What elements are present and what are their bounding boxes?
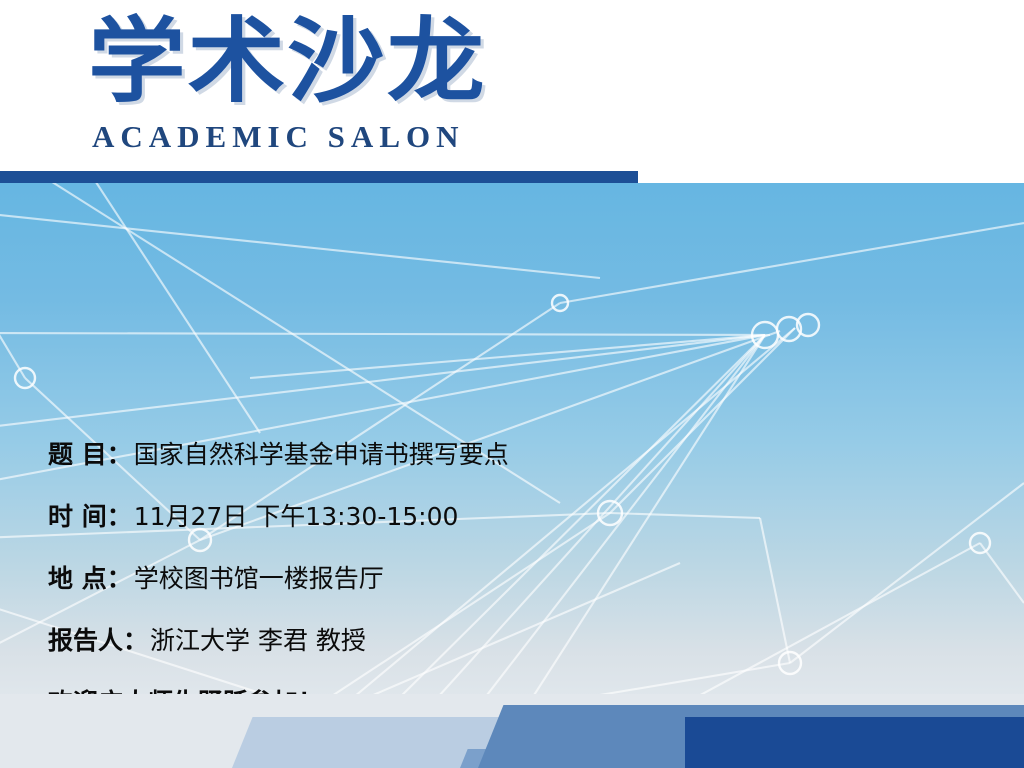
detail-value: 国家自然科学基金申请书撰写要点 [134,438,509,472]
slide-poster: 学术沙龙 ACADEMIC SALON [0,0,1024,768]
detail-row-time: 时 间： 11月27日 下午13:30-15:00 [48,500,688,534]
poster-header: 学术沙龙 ACADEMIC SALON [0,0,1024,183]
detail-label: 时 间： [48,500,132,534]
poster-body: 题 目： 国家自然科学基金申请书撰写要点 时 间： 11月27日 下午13:30… [0,183,1024,717]
header-divider-bar [0,171,638,183]
detail-label: 地 点： [48,562,132,596]
poster-footer: 绍兴文理学院 Shaoxing University 医学院 [0,694,1024,768]
detail-row-speaker: 报告人： 浙江大学 李君 教授 [48,624,688,658]
detail-row-topic: 题 目： 国家自然科学基金申请书撰写要点 [48,438,688,472]
footer-navy-band: 绍兴文理学院 Shaoxing University 医学院 [685,717,1024,768]
academic-salon-logo-en: ACADEMIC SALON [92,118,465,156]
event-details: 题 目： 国家自然科学基金申请书撰写要点 时 间： 11月27日 下午13:30… [48,438,688,717]
detail-label: 报告人： [48,624,148,658]
detail-row-location: 地 点： 学校图书馆一楼报告厅 [48,562,688,596]
detail-value: 11月27日 下午13:30-15:00 [134,500,459,534]
detail-value: 浙江大学 李君 教授 [150,624,366,658]
detail-label: 题 目： [48,438,132,472]
detail-value: 学校图书馆一楼报告厅 [134,562,384,596]
academic-salon-logo-cn: 学术沙龙 [88,8,487,116]
